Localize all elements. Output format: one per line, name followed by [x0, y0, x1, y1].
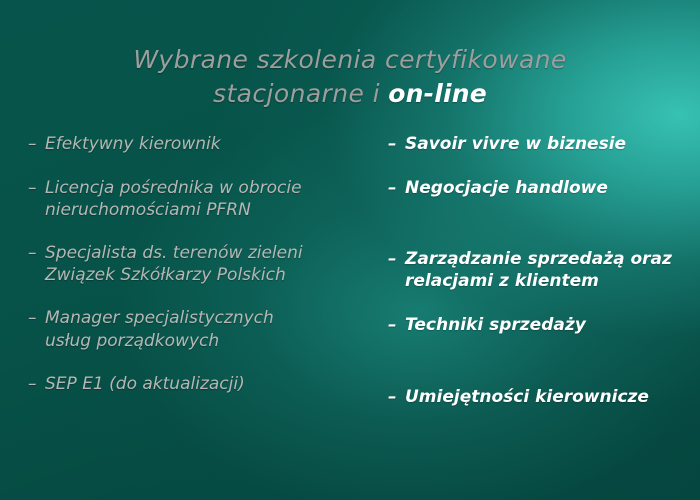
list-item-label: Negocjacje handlowe [405, 178, 608, 198]
dash-marker-icon: – [388, 177, 397, 199]
list-item-label: Zarządzanie sprzedażą oraz relacjami z k… [405, 249, 672, 291]
list-item: –Umiejętności kierownicze [388, 386, 688, 408]
list-item-label: Umiejętności kierownicze [405, 387, 649, 407]
list-item: –Licencja pośrednika w obrocie nieruchom… [28, 177, 388, 221]
list-item: –SEP E1 (do aktualizacji) [28, 373, 388, 395]
list-item-label: Techniki sprzedaży [405, 315, 586, 335]
list-item-label: SEP E1 (do aktualizacji) [45, 374, 245, 394]
dash-marker-icon: – [388, 133, 397, 155]
dash-marker-icon: – [28, 307, 37, 329]
content-columns: –Efektywny kierownik –Licencja pośrednik… [0, 133, 700, 433]
list-item: –Savoir vivre w biznesie [388, 133, 688, 155]
title-line-2-prefix: stacjonarne i [213, 79, 388, 108]
list-item: –Negocjacje handlowe [388, 177, 688, 199]
title-line-1: Wybrane szkolenia certyfikowane [0, 44, 700, 77]
list-item-label: Licencja pośrednika w obrocie nieruchomo… [45, 178, 302, 220]
title-line-2-emphasis: on-line [388, 79, 487, 108]
slide-title: Wybrane szkolenia certyfikowane stacjona… [0, 44, 700, 110]
list-item-label: Specjalista ds. terenów zieleni Związek … [45, 243, 303, 285]
left-column: –Efektywny kierownik –Licencja pośrednik… [28, 133, 388, 395]
list-item: –Manager specjalistycznych usług porządk… [28, 307, 388, 351]
list-item: –Zarządzanie sprzedażą oraz relacjami z … [388, 248, 688, 292]
list-item: –Techniki sprzedaży [388, 314, 688, 336]
list-item-label: Manager specjalistycznych usług porządko… [45, 308, 274, 350]
dash-marker-icon: – [28, 373, 37, 395]
dash-marker-icon: – [388, 314, 397, 336]
right-column: –Savoir vivre w biznesie –Negocjacje han… [388, 133, 688, 409]
dash-marker-icon: – [388, 248, 397, 270]
dash-marker-icon: – [28, 177, 37, 199]
dash-marker-icon: – [28, 242, 37, 264]
presentation-slide: Wybrane szkolenia certyfikowane stacjona… [0, 0, 700, 500]
dash-marker-icon: – [388, 386, 397, 408]
list-item: –Efektywny kierownik [28, 133, 388, 155]
dash-marker-icon: – [28, 133, 37, 155]
list-item-label: Efektywny kierownik [45, 134, 221, 154]
title-line-2: stacjonarne i on-line [0, 78, 700, 111]
list-item: –Specjalista ds. terenów zieleni Związek… [28, 242, 388, 286]
list-item-label: Savoir vivre w biznesie [405, 134, 626, 154]
